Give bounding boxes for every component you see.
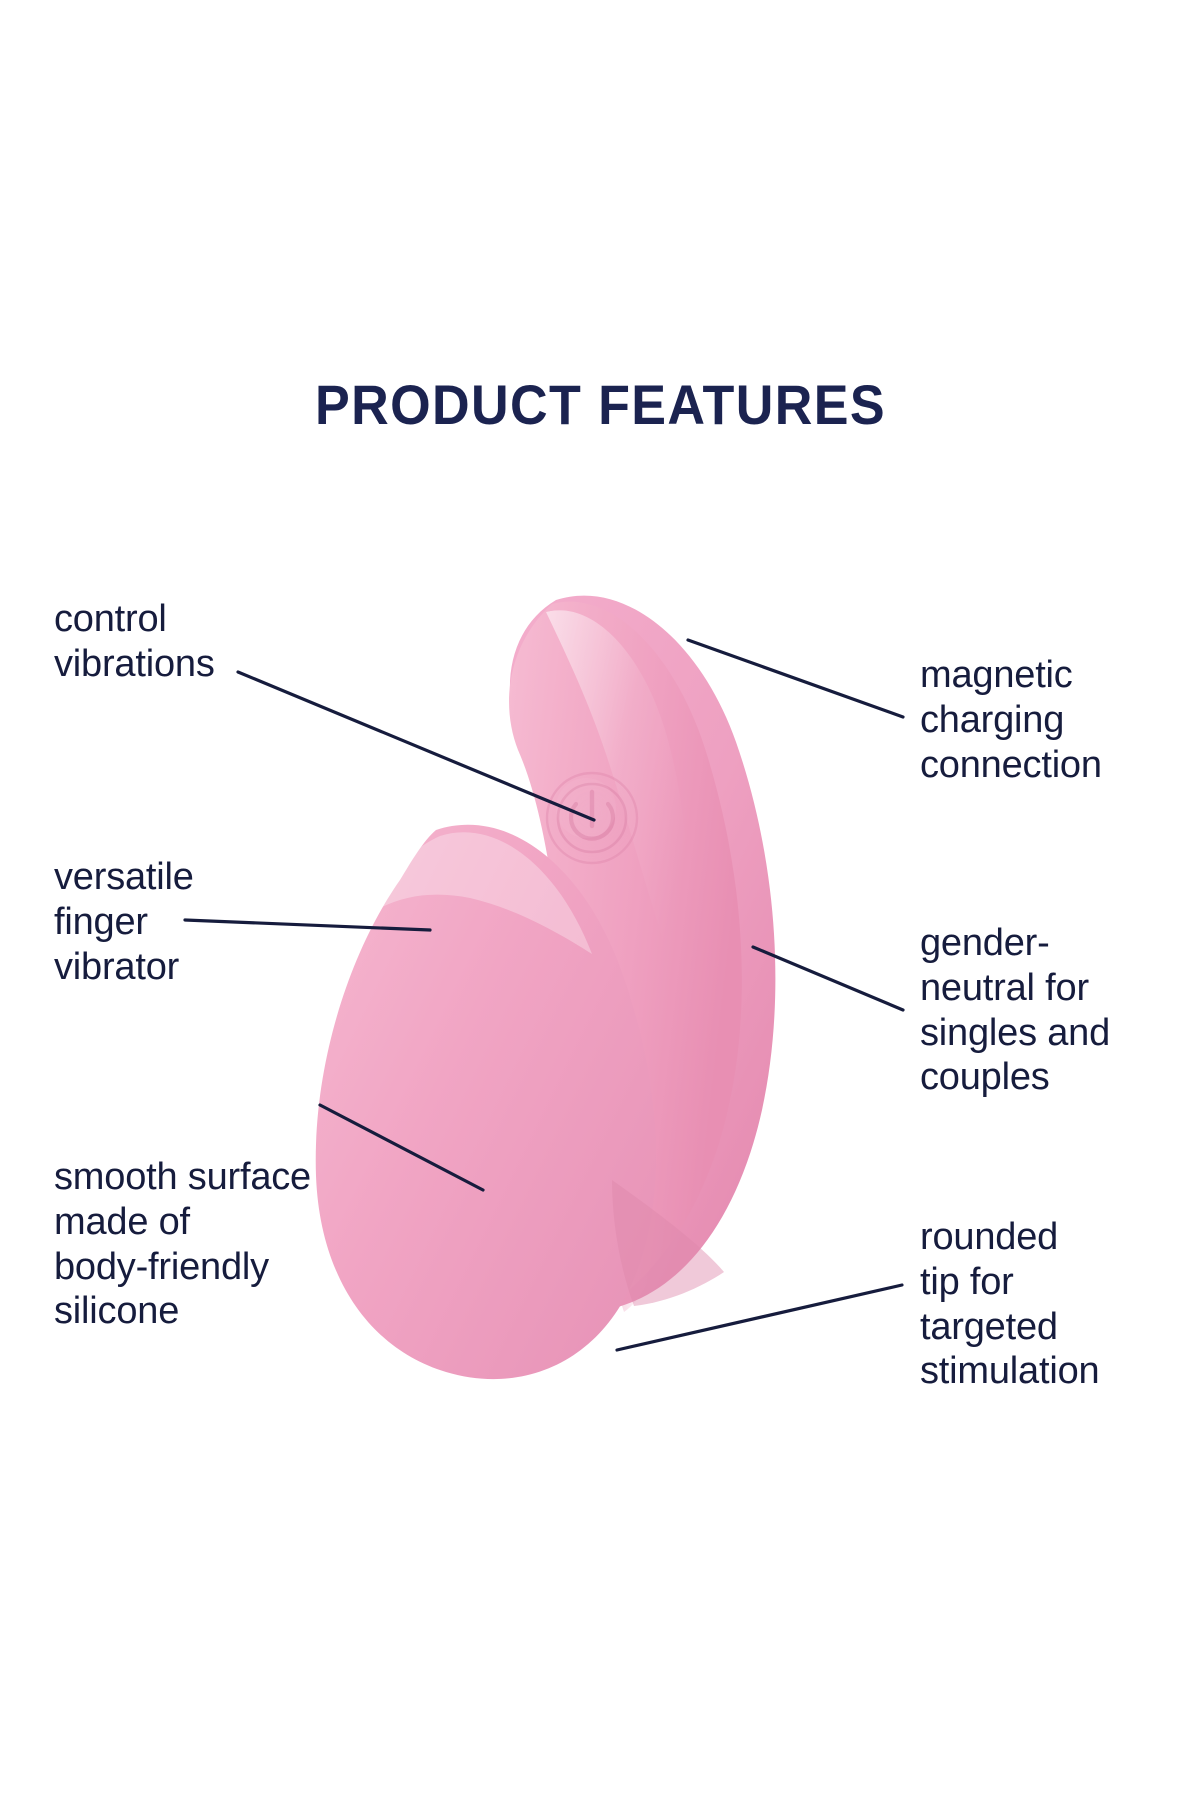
callout-magnetic-charging-connection: magnetic charging connection (920, 653, 1200, 787)
callout-control-vibrations: control vibrations (54, 597, 354, 687)
callout-versatile-finger-vibrator: versatile finger vibrator (54, 855, 354, 989)
callout-rounded-tip: rounded tip for targeted stimulation (920, 1215, 1200, 1394)
leader-line-gender-neutral (753, 947, 903, 1010)
callout-smooth-surface: smooth surface made of body-friendly sil… (54, 1155, 394, 1334)
product-features-page: PRODUCT FEATURES (0, 0, 1201, 1801)
callout-gender-neutral: gender- neutral for singles and couples (920, 921, 1200, 1100)
